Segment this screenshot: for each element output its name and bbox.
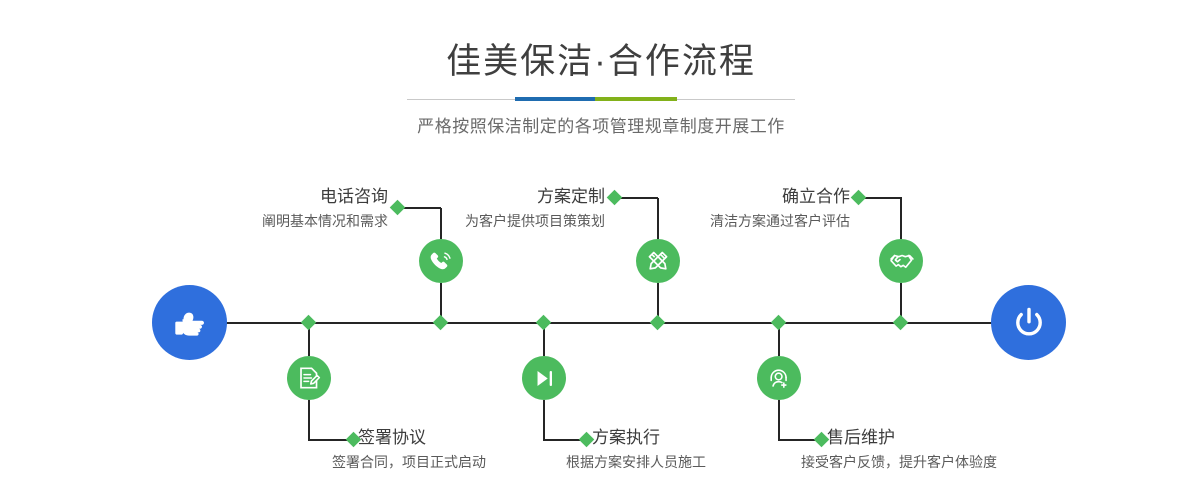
- step-label-phone-consultation: 电话咨询 阐明基本情况和需求: [236, 186, 388, 231]
- step-label-establish-cooperation: 确立合作 清洁方案通过客户评估: [695, 186, 850, 231]
- connector-vline-plan-execution: [543, 400, 545, 440]
- step-node-plan-customization[interactable]: [636, 239, 680, 283]
- step-label-plan-customization: 方案定制 为客户提供项目策策划: [450, 186, 605, 231]
- step-desc: 清洁方案通过客户评估: [695, 211, 850, 231]
- step-node-establish-cooperation[interactable]: [879, 239, 923, 283]
- step-desc: 阐明基本情况和需求: [236, 211, 388, 231]
- connector-vline-establish-cooperation: [900, 198, 902, 239]
- axis-marker-plan-customization: [650, 315, 666, 331]
- step-title: 方案定制: [450, 186, 605, 208]
- step-title: 方案执行: [592, 427, 706, 449]
- step-title: 售后维护: [827, 427, 997, 449]
- timeline-axis: [160, 322, 1045, 324]
- header: 佳美保洁·合作流程 严格按照保洁制定的各项管理规章制度开展工作: [0, 0, 1202, 137]
- step-title: 签署协议: [358, 427, 486, 449]
- power-icon: [1008, 302, 1050, 344]
- step-node-phone-consultation[interactable]: [419, 239, 463, 283]
- step-desc: 签署合同，项目正式启动: [332, 452, 486, 472]
- timeline-marker-phone-consultation: [390, 200, 406, 216]
- pointing-hand-icon: [170, 303, 210, 343]
- title-divider: [407, 95, 795, 103]
- phone-call-icon: [428, 248, 455, 275]
- axis-marker-sign-agreement: [301, 315, 317, 331]
- customer-service-icon: [766, 365, 792, 391]
- timeline-start-node[interactable]: [152, 285, 227, 360]
- step-title: 电话咨询: [236, 186, 388, 208]
- handshake-icon: [888, 248, 915, 275]
- cooperation-process-infographic: 佳美保洁·合作流程 严格按照保洁制定的各项管理规章制度开展工作: [0, 0, 1202, 502]
- axis-marker-establish-cooperation: [893, 315, 909, 331]
- step-label-sign-agreement: 签署协议 签署合同，项目正式启动: [358, 427, 486, 472]
- step-node-plan-execution[interactable]: [522, 356, 566, 400]
- axis-marker-phone-consultation: [433, 315, 449, 331]
- step-desc: 为客户提供项目策策划: [450, 211, 605, 231]
- step-node-after-sales-maintenance[interactable]: [757, 356, 801, 400]
- page-title: 佳美保洁·合作流程: [0, 40, 1202, 84]
- step-label-after-sales-maintenance: 售后维护 接受客户反馈，提升客户体验度: [827, 427, 997, 472]
- document-edit-icon: [296, 365, 322, 391]
- play-execute-icon: [532, 366, 557, 391]
- step-title: 确立合作: [695, 186, 850, 208]
- axis-marker-after-sales-maintenance: [771, 315, 787, 331]
- connector-vline-phone-consultation: [440, 208, 442, 239]
- timeline-marker-establish-cooperation: [851, 190, 867, 206]
- connector-vline-after-sales-maintenance: [778, 400, 780, 440]
- step-label-plan-execution: 方案执行 根据方案安排人员施工: [592, 427, 706, 472]
- page-subtitle: 严格按照保洁制定的各项管理规章制度开展工作: [0, 112, 1202, 137]
- timeline-end-node[interactable]: [991, 285, 1066, 360]
- timeline-marker-plan-customization: [607, 190, 623, 206]
- divider-segment-blue: [515, 97, 595, 101]
- divider-segment-green: [595, 97, 677, 101]
- pencil-ruler-icon: [645, 248, 671, 274]
- step-desc: 接受客户反馈，提升客户体验度: [801, 452, 997, 472]
- axis-marker-plan-execution: [536, 315, 552, 331]
- connector-vline-plan-customization: [657, 198, 659, 239]
- step-node-sign-agreement[interactable]: [287, 356, 331, 400]
- step-desc: 根据方案安排人员施工: [566, 452, 706, 472]
- connector-vline-sign-agreement: [308, 400, 310, 440]
